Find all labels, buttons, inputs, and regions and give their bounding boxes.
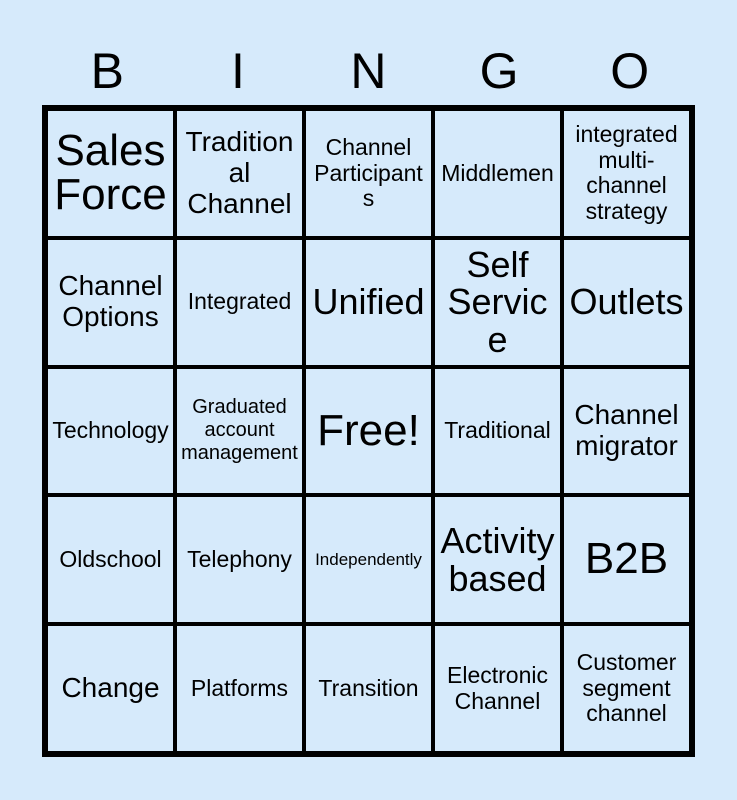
bingo-cell[interactable]: Change	[46, 624, 175, 753]
bingo-cell-label: Outlets	[569, 283, 683, 321]
bingo-cell[interactable]: Integrated	[175, 238, 304, 367]
bingo-cell[interactable]: Unified	[304, 238, 433, 367]
header-letter-n: N	[303, 36, 434, 105]
bingo-cell-label: Integrated	[188, 289, 292, 315]
bingo-cell[interactable]: Technology	[46, 367, 175, 496]
bingo-cell[interactable]: Electronic Channel	[433, 624, 562, 753]
bingo-cell-label: Middlemen	[441, 161, 554, 187]
bingo-cell[interactable]: Channel Participants	[304, 109, 433, 238]
bingo-cell-label: Traditional	[444, 418, 551, 444]
bingo-cell-label: Oldschool	[59, 547, 161, 573]
bingo-grid: Sales Force Traditional Channel Channel …	[42, 105, 695, 757]
bingo-cell-label: Channel Options	[51, 271, 170, 333]
bingo-cell[interactable]: Channel migrator	[562, 367, 691, 496]
bingo-cell[interactable]: Channel Options	[46, 238, 175, 367]
bingo-cell-label: Self Service	[438, 246, 557, 359]
bingo-cell[interactable]: Traditional	[433, 367, 562, 496]
bingo-cell-label: Sales Force	[51, 129, 170, 219]
bingo-cell-label: Free!	[317, 409, 420, 454]
bingo-cell[interactable]: B2B	[562, 495, 691, 624]
bingo-cell-label: Electronic Channel	[438, 663, 557, 715]
header-letter-i: I	[173, 36, 304, 105]
bingo-cell[interactable]: Graduated account management	[175, 367, 304, 496]
bingo-cell[interactable]: Middlemen	[433, 109, 562, 238]
bingo-cell-label: Technology	[52, 418, 168, 444]
bingo-card: B I N G O Sales Force Traditional Channe…	[0, 0, 737, 800]
bingo-header: B I N G O	[42, 36, 695, 105]
bingo-cell-label: Activity based	[438, 522, 557, 598]
bingo-cell[interactable]: Telephony	[175, 495, 304, 624]
bingo-cell-label: B2B	[585, 537, 668, 582]
header-letter-o: O	[564, 36, 695, 105]
bingo-cell-label: Telephony	[187, 547, 292, 573]
bingo-cell-label: Independently	[315, 550, 422, 570]
bingo-cell-free[interactable]: Free!	[304, 367, 433, 496]
bingo-cell[interactable]: Self Service	[433, 238, 562, 367]
bingo-cell-label: Change	[61, 673, 159, 704]
bingo-cell-label: Transition	[318, 676, 418, 702]
bingo-cell[interactable]: Sales Force	[46, 109, 175, 238]
bingo-cell-label: Channel Participants	[309, 135, 428, 212]
bingo-cell[interactable]: integrated multi-channel strategy	[562, 109, 691, 238]
bingo-cell[interactable]: Independently	[304, 495, 433, 624]
bingo-cell-label: Channel migrator	[567, 400, 686, 462]
bingo-cell[interactable]: Outlets	[562, 238, 691, 367]
bingo-cell[interactable]: Customer segment channel	[562, 624, 691, 753]
header-letter-g: G	[434, 36, 565, 105]
bingo-cell-label: Unified	[312, 283, 424, 321]
header-letter-b: B	[42, 36, 173, 105]
bingo-cell[interactable]: Transition	[304, 624, 433, 753]
bingo-cell[interactable]: Traditional Channel	[175, 109, 304, 238]
bingo-cell-label: Graduated account management	[180, 396, 299, 465]
bingo-cell-label: integrated multi-channel strategy	[567, 122, 686, 225]
bingo-cell-label: Traditional Channel	[180, 127, 299, 219]
bingo-cell[interactable]: Platforms	[175, 624, 304, 753]
bingo-cell[interactable]: Activity based	[433, 495, 562, 624]
bingo-cell-label: Customer segment channel	[567, 650, 686, 727]
bingo-cell[interactable]: Oldschool	[46, 495, 175, 624]
bingo-cell-label: Platforms	[191, 676, 288, 702]
